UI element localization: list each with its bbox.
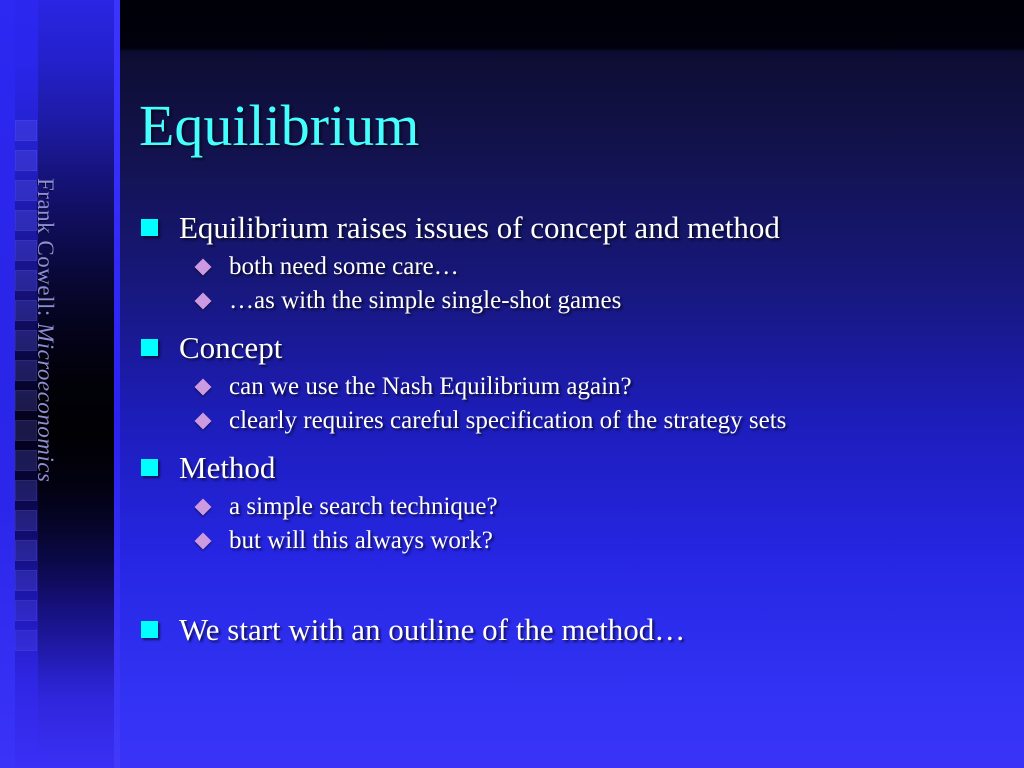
sidebar-square-14 bbox=[15, 540, 37, 561]
sidebar-square-17 bbox=[15, 630, 37, 651]
bullet-level2-2-0: a simple search technique? bbox=[139, 490, 1009, 524]
sidebar-dark-overlay bbox=[38, 0, 118, 768]
bullet-group-0: Equilibrium raises issues of concept and… bbox=[139, 208, 1009, 318]
sidebar-square-12 bbox=[15, 480, 37, 501]
sidebar-square-11 bbox=[15, 450, 37, 471]
presentation-slide: Frank Cowell: Microeconomics Equilibrium… bbox=[0, 0, 1024, 768]
sidebar-square-2 bbox=[15, 180, 37, 201]
sidebar-square-16 bbox=[15, 600, 37, 621]
bullet-level2-label-0-1: …as with the simple single-shot games bbox=[229, 287, 621, 314]
bullet-level1-label-2: Method bbox=[179, 450, 275, 485]
purple-diamond-bullet-icon bbox=[195, 293, 212, 310]
bullet-level2-1-1: clearly requires careful specification o… bbox=[139, 404, 1009, 438]
bullet-level1-1: Concept bbox=[139, 328, 1009, 368]
bullet-group-2: Methoda simple search technique?but will… bbox=[139, 448, 1009, 558]
bullet-level2-label-2-0: a simple search technique? bbox=[229, 493, 498, 520]
sidebar-square-6 bbox=[15, 300, 37, 321]
sidebar-square-15 bbox=[15, 570, 37, 591]
purple-diamond-bullet-icon bbox=[195, 533, 212, 550]
sidebar-square-4 bbox=[15, 240, 37, 261]
sidebar-square-9 bbox=[15, 390, 37, 411]
bullet-level2-0-1: …as with the simple single-shot games bbox=[139, 284, 1009, 318]
cyan-square-bullet-icon bbox=[141, 339, 158, 356]
bullet-level1-0: Equilibrium raises issues of concept and… bbox=[139, 208, 1009, 248]
slide-title: Equilibrium bbox=[139, 96, 419, 157]
purple-diamond-bullet-icon bbox=[195, 259, 212, 276]
sidebar-square-decoration bbox=[15, 0, 39, 768]
sidebar-square-13 bbox=[15, 510, 37, 531]
slide-sidebar-band bbox=[0, 0, 118, 768]
bullet-level1-label-0: Equilibrium raises issues of concept and… bbox=[179, 210, 780, 245]
bullet-level2-2-1: but will this always work? bbox=[139, 524, 1009, 558]
bullet-group-1: Conceptcan we use the Nash Equilibrium a… bbox=[139, 328, 1009, 438]
closing-bullet: We start with an outline of the method… bbox=[139, 610, 1009, 650]
bullet-level2-0-0: both need some care… bbox=[139, 250, 1009, 284]
slide-body: Equilibrium raises issues of concept and… bbox=[139, 208, 1009, 652]
bullet-level2-1-0: can we use the Nash Equilibrium again? bbox=[139, 370, 1009, 404]
bullet-level1-label-1: Concept bbox=[179, 330, 282, 365]
sidebar-square-8 bbox=[15, 360, 37, 381]
bullet-spacer bbox=[139, 568, 1009, 610]
bullet-level2-label-1-0: can we use the Nash Equilibrium again? bbox=[229, 373, 632, 400]
sidebar-square-7 bbox=[15, 330, 37, 351]
sidebar-left-strip bbox=[0, 0, 15, 768]
bullet-level2-label-0-0: both need some care… bbox=[229, 253, 459, 280]
cyan-square-bullet-icon bbox=[141, 459, 158, 476]
sidebar-accent-rule bbox=[114, 0, 120, 768]
purple-diamond-bullet-icon bbox=[195, 379, 212, 396]
sidebar-square-3 bbox=[15, 210, 37, 231]
sidebar-square-5 bbox=[15, 270, 37, 291]
cyan-square-bullet-icon bbox=[141, 621, 158, 638]
closing-bullet-label: We start with an outline of the method… bbox=[179, 612, 685, 647]
bullet-level2-label-2-1: but will this always work? bbox=[229, 527, 493, 554]
bullet-level2-label-1-1: clearly requires careful specification o… bbox=[229, 407, 786, 434]
sidebar-square-0 bbox=[15, 120, 37, 141]
sidebar-square-10 bbox=[15, 420, 37, 441]
bullet-level1-2: Method bbox=[139, 448, 1009, 488]
purple-diamond-bullet-icon bbox=[195, 413, 212, 430]
sidebar-square-1 bbox=[15, 150, 37, 171]
purple-diamond-bullet-icon bbox=[195, 499, 212, 516]
cyan-square-bullet-icon bbox=[141, 219, 158, 236]
